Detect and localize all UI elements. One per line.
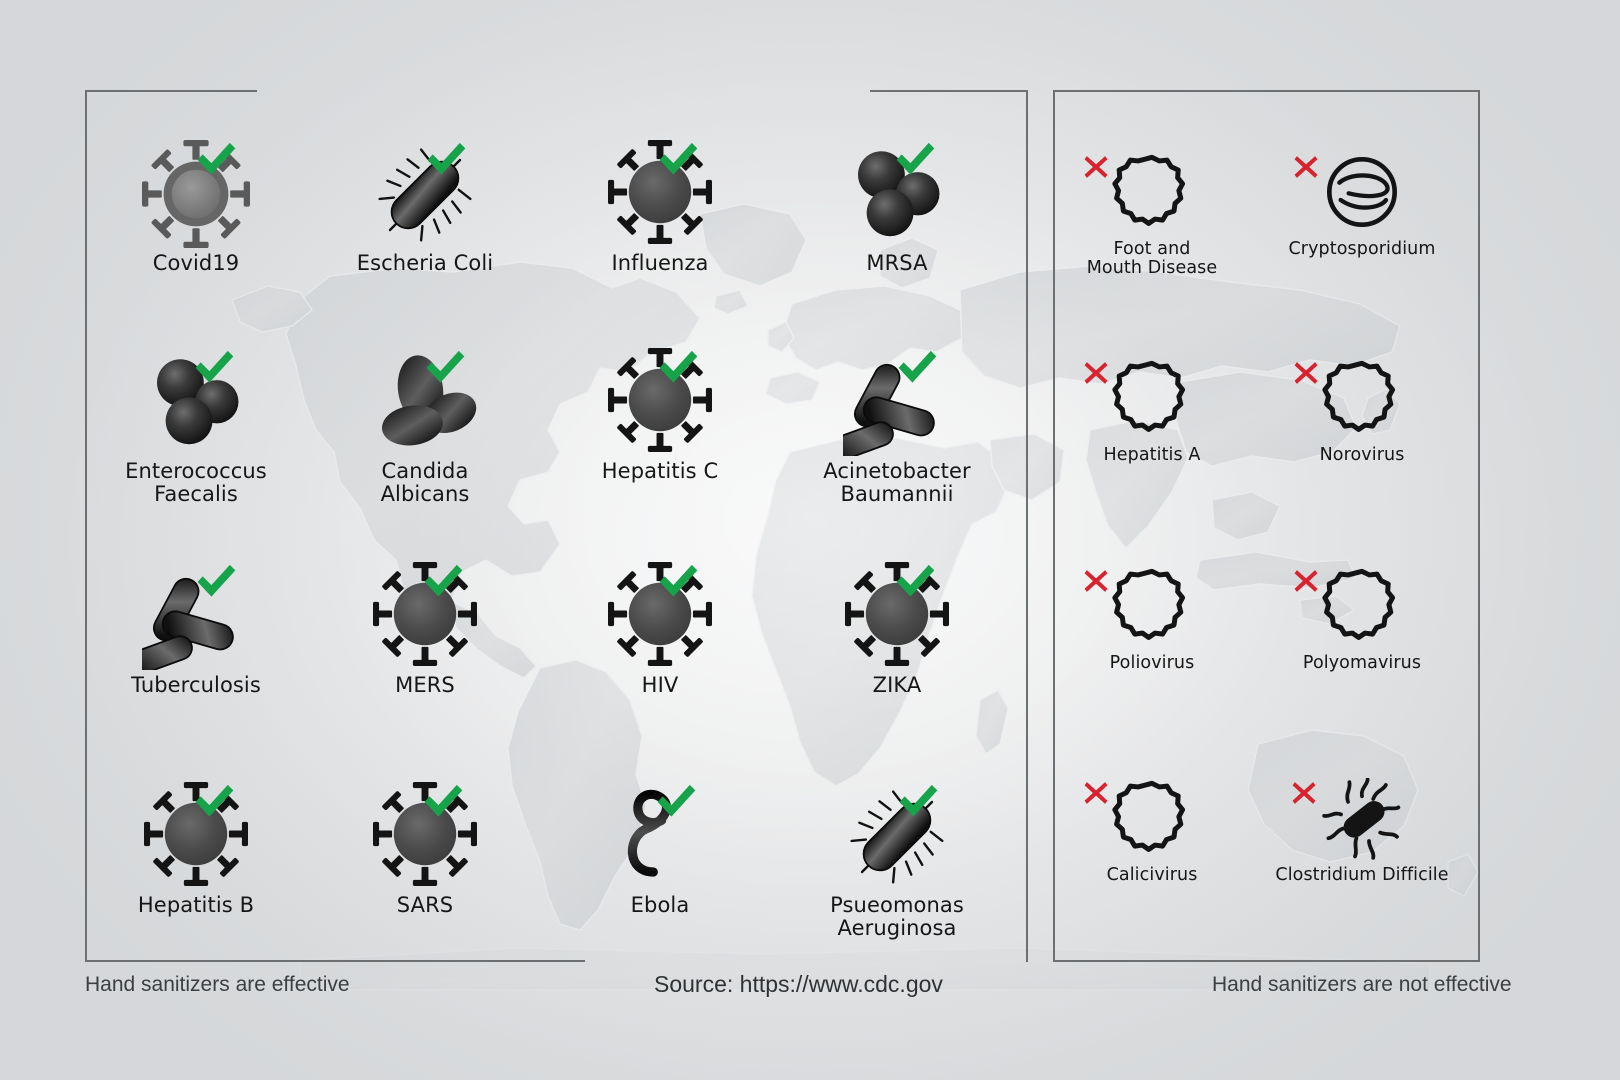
green-check-icon: [655, 558, 701, 604]
germ-icon-group: [96, 348, 296, 458]
germ-label: Foot and Mouth Disease: [1052, 240, 1252, 278]
wavy-capsid-icon: [1112, 358, 1192, 438]
germ-label: Candida Albicans: [325, 460, 525, 505]
germ-label: Hepatitis C: [560, 460, 760, 483]
green-check-icon: [892, 558, 938, 604]
germ-icon-group: [1052, 566, 1252, 652]
germ-label: Psueomonas Aeruginosa: [797, 894, 997, 939]
germ-icon-group: [797, 562, 997, 672]
green-check-icon: [420, 778, 466, 824]
germ-label: Norovirus: [1262, 446, 1462, 465]
germ-icon-group: [1262, 778, 1462, 864]
green-check-icon: [894, 344, 940, 390]
caption-effective: Hand sanitizers are effective: [85, 973, 350, 997]
panel2-border-top: [1053, 90, 1480, 92]
panel2-border-right: [1478, 90, 1480, 962]
germ-icon-group: [797, 348, 997, 458]
germ-icon-group: [797, 140, 997, 250]
germ-label: MRSA: [797, 252, 997, 275]
germ-icon-group: [325, 348, 525, 458]
germ-label: Ebola: [560, 894, 760, 917]
germ-item-cryptosporidium: Cryptosporidium: [1262, 152, 1462, 259]
germ-icon-group: [96, 782, 296, 892]
caption-not-effective: Hand sanitizers are not effective: [1212, 973, 1512, 997]
wavy-capsid-icon: [1322, 566, 1402, 646]
germ-label: Clostridium Difficile: [1262, 866, 1462, 885]
green-check-icon: [420, 558, 466, 604]
red-cross-icon: [1293, 154, 1319, 180]
panel-border-top-right: [870, 90, 1028, 92]
germ-item-polyomavirus: Polyomavirus: [1262, 566, 1462, 673]
infographic-stage: Covid19Escheria ColiInfluenzaMRSAEnteroc…: [0, 0, 1620, 1080]
germ-item-enterococcus-faecalis: Enterococcus Faecalis: [96, 348, 296, 505]
germ-label: Cryptosporidium: [1262, 240, 1462, 259]
green-check-icon: [423, 136, 469, 182]
germ-item-acinetobacter-baumannii: Acinetobacter Baumannii: [797, 348, 997, 505]
germ-icon-group: [1262, 152, 1462, 238]
germ-item-hepatitis-a: Hepatitis A: [1052, 358, 1252, 465]
germ-icon-group: [560, 348, 760, 458]
germ-item-calicivirus: Calicivirus: [1052, 778, 1252, 885]
germ-icon-group: [560, 562, 760, 672]
germ-label: MERS: [325, 674, 525, 697]
germ-icon-group: [1052, 778, 1252, 864]
germ-icon-group: [325, 140, 525, 250]
germ-label: Hepatitis A: [1052, 446, 1252, 465]
germ-item-hepatitis-b: Hepatitis B: [96, 782, 296, 917]
wavy-capsid-icon: [1112, 566, 1192, 646]
germ-icon-group: [96, 562, 296, 672]
green-check-icon: [422, 344, 468, 390]
flagellated-bacillus-icon: [1320, 778, 1404, 862]
red-cross-icon: [1293, 568, 1319, 594]
panel-border-right: [1026, 90, 1028, 962]
germ-item-tuberculosis: Tuberculosis: [96, 562, 296, 697]
germ-item-hepatitis-c: Hepatitis C: [560, 348, 760, 483]
panel-border-top-left: [85, 90, 257, 92]
germ-label: Covid19: [96, 252, 296, 275]
germ-item-sars: SARS: [325, 782, 525, 917]
germ-item-escheria-coli: Escheria Coli: [325, 140, 525, 275]
germ-icon-group: [325, 782, 525, 892]
germ-item-mers: MERS: [325, 562, 525, 697]
panel2-border-bottom: [1053, 960, 1480, 962]
germ-item-zika: ZIKA: [797, 562, 997, 697]
germ-item-covid19: Covid19: [96, 140, 296, 275]
germ-item-ebola: Ebola: [560, 782, 760, 917]
green-check-icon: [892, 136, 938, 182]
oocyst-circle-icon: [1322, 152, 1402, 232]
germ-item-hiv: HIV: [560, 562, 760, 697]
germ-icon-group: [560, 140, 760, 250]
germ-label: Influenza: [560, 252, 760, 275]
red-cross-icon: [1083, 154, 1109, 180]
red-cross-icon: [1083, 780, 1109, 806]
germ-label: Hepatitis B: [96, 894, 296, 917]
green-check-icon: [191, 344, 237, 390]
germ-label: HIV: [560, 674, 760, 697]
green-check-icon: [193, 558, 239, 604]
germ-icon-group: [1052, 152, 1252, 238]
red-cross-icon: [1293, 360, 1319, 386]
germ-label: Calicivirus: [1052, 866, 1252, 885]
green-check-icon: [193, 136, 239, 182]
caption-source: Source: https://www.cdc.gov: [654, 971, 943, 998]
germ-label: Polyomavirus: [1262, 654, 1462, 673]
germ-item-influenza: Influenza: [560, 140, 760, 275]
germ-icon-group: [96, 140, 296, 250]
red-cross-icon: [1291, 780, 1317, 806]
green-check-icon: [191, 778, 237, 824]
germ-label: Tuberculosis: [96, 674, 296, 697]
germ-item-norovirus: Norovirus: [1262, 358, 1462, 465]
germ-label: Enterococcus Faecalis: [96, 460, 296, 505]
red-cross-icon: [1083, 360, 1109, 386]
germ-item-clostridium-difficile: Clostridium Difficile: [1262, 778, 1462, 885]
germ-icon-group: [1052, 358, 1252, 444]
panel-border-bottom: [85, 960, 585, 962]
green-check-icon: [655, 344, 701, 390]
germ-item-candida-albicans: Candida Albicans: [325, 348, 525, 505]
germ-item-poliovirus: Poliovirus: [1052, 566, 1252, 673]
green-check-icon: [653, 778, 699, 824]
germ-label: SARS: [325, 894, 525, 917]
red-cross-icon: [1083, 568, 1109, 594]
germ-icon-group: [560, 782, 760, 892]
germ-icon-group: [797, 782, 997, 892]
germ-label: ZIKA: [797, 674, 997, 697]
green-check-icon: [895, 778, 941, 824]
germ-item-foot-and-mouth-disease: Foot and Mouth Disease: [1052, 152, 1252, 278]
wavy-capsid-icon: [1322, 358, 1402, 438]
germ-icon-group: [325, 562, 525, 672]
green-check-icon: [655, 136, 701, 182]
wavy-capsid-icon: [1112, 778, 1192, 858]
germ-icon-group: [1262, 358, 1462, 444]
germ-item-psueomonas-aeruginosa: Psueomonas Aeruginosa: [797, 782, 997, 939]
germ-item-mrsa: MRSA: [797, 140, 997, 275]
germ-label: Escheria Coli: [325, 252, 525, 275]
germ-label: Poliovirus: [1052, 654, 1252, 673]
wavy-capsid-icon: [1112, 152, 1192, 232]
germ-label: Acinetobacter Baumannii: [797, 460, 997, 505]
panel-border-left: [85, 90, 87, 962]
germ-icon-group: [1262, 566, 1462, 652]
